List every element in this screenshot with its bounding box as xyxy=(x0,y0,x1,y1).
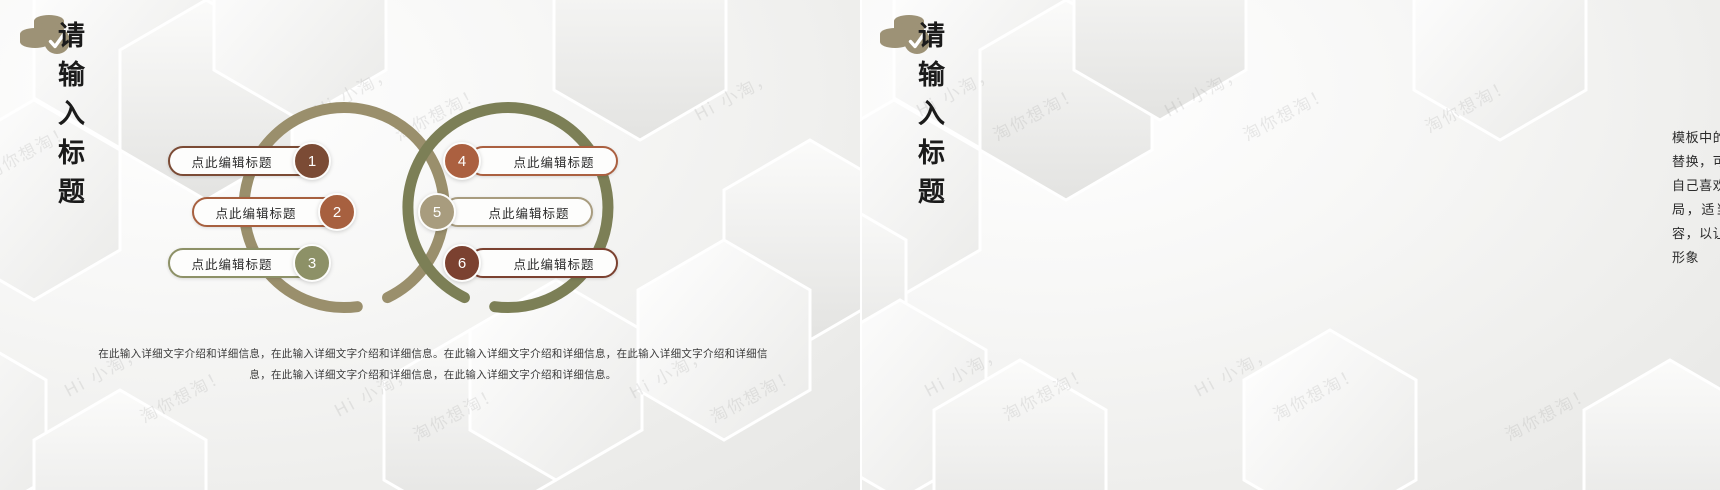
list-item-label: 点此编辑标题 xyxy=(488,203,569,222)
list-item-number[interactable]: 1 xyxy=(293,142,331,180)
slide-right: Hi 小淘， 淘你想淘！ Hi 小淘， 淘你想淘！ 淘你想淘！ Hi 小淘， 淘… xyxy=(860,0,1720,490)
page-title: 请输入标题 xyxy=(918,14,947,209)
watermark: 淘你想淘！ xyxy=(1238,79,1334,146)
list-item-label: 点此编辑标题 xyxy=(191,254,272,273)
footer-paragraph: 在此输入详细文字介绍和详细信息，在此输入详细文字介绍和详细信息。在此输入详细文字… xyxy=(88,344,778,386)
list-item[interactable]: 点此编辑标题 xyxy=(468,146,618,176)
left-paragraph: 模板中的所有颜色板式均可编辑替换，可以根据自己的需要更换自己喜欢的颜色与修改图表… xyxy=(1672,126,1720,270)
slide-left: Hi 小淘， 淘你想淘！ 淘你想淘！ Hi 小淘， Hi 小淘， 淘你想淘！ H… xyxy=(0,0,860,490)
watermark: Hi 小淘， xyxy=(1189,339,1277,401)
list-item-number[interactable]: 2 xyxy=(318,193,356,231)
list-item-label: 点此编辑标题 xyxy=(513,254,594,273)
list-item-number[interactable]: 4 xyxy=(443,142,481,180)
hexagon-background xyxy=(860,0,1720,490)
watermark: Hi 小淘， xyxy=(1159,59,1247,121)
watermark: 淘你想淘！ xyxy=(988,79,1084,146)
list-item-label: 点此编辑标题 xyxy=(513,152,594,171)
list-item[interactable]: 点此编辑标题 xyxy=(468,248,618,278)
list-item[interactable]: 点此编辑标题 xyxy=(443,197,593,227)
list-item-label: 点此编辑标题 xyxy=(215,203,296,222)
watermark: 淘你想淘！ xyxy=(408,379,504,446)
watermark: 淘你想淘！ xyxy=(1268,359,1364,426)
watermark: 淘你想淘！ xyxy=(998,359,1094,426)
watermark: Hi 小淘， xyxy=(689,63,777,125)
watermark: Hi 小淘， xyxy=(919,339,1007,401)
page-title: 请输入标题 xyxy=(58,14,87,209)
list-item-number[interactable]: 6 xyxy=(443,244,481,282)
slide-pair-canvas: Hi 小淘， 淘你想淘！ 淘你想淘！ Hi 小淘， Hi 小淘， 淘你想淘！ H… xyxy=(0,0,1720,490)
watermark: 淘你想淘！ xyxy=(1500,379,1596,446)
slide-divider xyxy=(860,0,862,490)
list-item-number[interactable]: 5 xyxy=(418,193,456,231)
list-item-label: 点此编辑标题 xyxy=(191,152,272,171)
list-item-number[interactable]: 3 xyxy=(293,244,331,282)
watermark: 淘你想淘！ xyxy=(1420,71,1516,138)
